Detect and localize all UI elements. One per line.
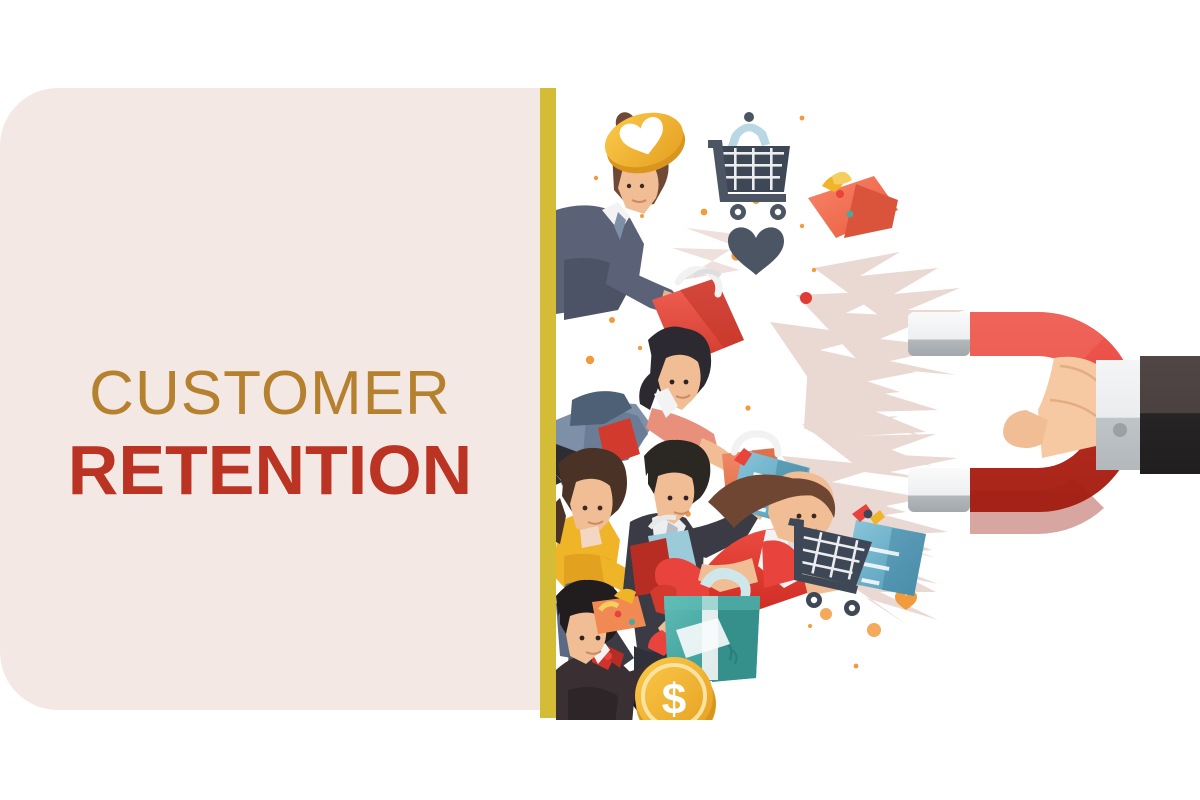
shopping-cart-icon-top	[708, 112, 790, 220]
title-line-retention: RETENTION	[0, 435, 540, 505]
hand-holding-magnet	[1003, 356, 1200, 474]
red-particle	[800, 292, 812, 304]
vertical-gold-divider	[540, 88, 556, 718]
heart-icon	[728, 227, 784, 275]
magnet-customers-illustration: $	[556, 90, 1200, 720]
title-line-customer: CUSTOMER	[0, 363, 540, 425]
title-panel: CUSTOMER RETENTION	[0, 88, 540, 710]
banner-canvas: CUSTOMER RETENTION	[0, 0, 1200, 800]
svg-text:$: $	[662, 675, 686, 720]
page-title: CUSTOMER RETENTION	[0, 363, 540, 505]
gift-box-orange-icon	[808, 172, 898, 238]
gold-heart-coin-icon	[598, 104, 691, 182]
